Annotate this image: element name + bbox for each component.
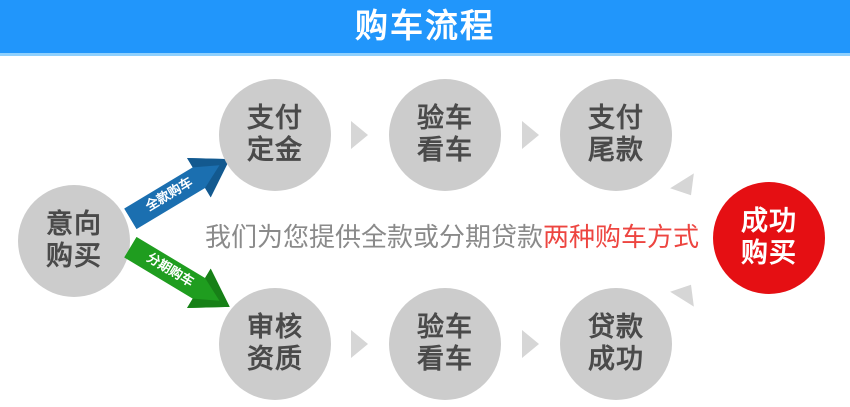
flow-node-qualification-review-line2: 资质 (247, 344, 303, 376)
flow-node-inspect-bottom: 验车 看车 (389, 288, 501, 400)
flow-node-loan-approved: 贷款 成功 (560, 288, 672, 400)
header-underline (0, 53, 850, 56)
connector-triangle-icon-top-2 (522, 121, 539, 149)
connector-triangle-icon-join-top (670, 173, 703, 202)
flow-node-success-line2: 购买 (741, 238, 797, 270)
flow-node-intent-line1: 意向 (46, 209, 102, 241)
center-caption-plain: 我们为您提供全款或分期贷款 (205, 223, 543, 253)
flow-node-loan-approved-line1: 贷款 (588, 312, 644, 344)
flow-node-intent-line2: 购买 (46, 241, 102, 273)
connector-triangle-icon-join-bottom (670, 277, 703, 306)
flow-node-qualification-review-line1: 审核 (247, 312, 303, 344)
flow-node-final-payment-line1: 支付 (588, 103, 644, 135)
page-title: 购车流程 (0, 0, 850, 53)
flow-node-deposit: 支付 定金 (219, 79, 331, 191)
purchase-flow-infographic: 购车流程 意向 购买 全款购车 分期购车 支付 定金 验车 看车 支付 尾款 审… (0, 0, 850, 407)
flow-node-loan-approved-line2: 成功 (588, 344, 644, 376)
center-caption: 我们为您提供全款或分期贷款两种购车方式 (205, 219, 695, 257)
flow-node-final-payment-line2: 尾款 (588, 135, 644, 167)
flow-node-inspect-bottom-line1: 验车 (417, 312, 473, 344)
flow-node-intent: 意向 购买 (18, 185, 130, 297)
flow-node-inspect-bottom-line2: 看车 (417, 344, 473, 376)
flow-node-inspect-top-line1: 验车 (417, 103, 473, 135)
flow-node-deposit-line2: 定金 (247, 135, 303, 167)
connector-triangle-icon-bottom-2 (522, 330, 539, 358)
flow-node-final-payment: 支付 尾款 (560, 79, 672, 191)
center-caption-highlight: 两种购车方式 (543, 223, 699, 253)
flow-node-qualification-review: 审核 资质 (219, 288, 331, 400)
flow-node-inspect-top: 验车 看车 (389, 79, 501, 191)
flow-node-deposit-line1: 支付 (247, 103, 303, 135)
flow-node-inspect-top-line2: 看车 (417, 135, 473, 167)
connector-triangle-icon-bottom-1 (351, 330, 368, 358)
flow-node-success: 成功 购买 (713, 182, 825, 294)
connector-triangle-icon-top-1 (351, 121, 368, 149)
flow-node-success-line1: 成功 (741, 206, 797, 238)
